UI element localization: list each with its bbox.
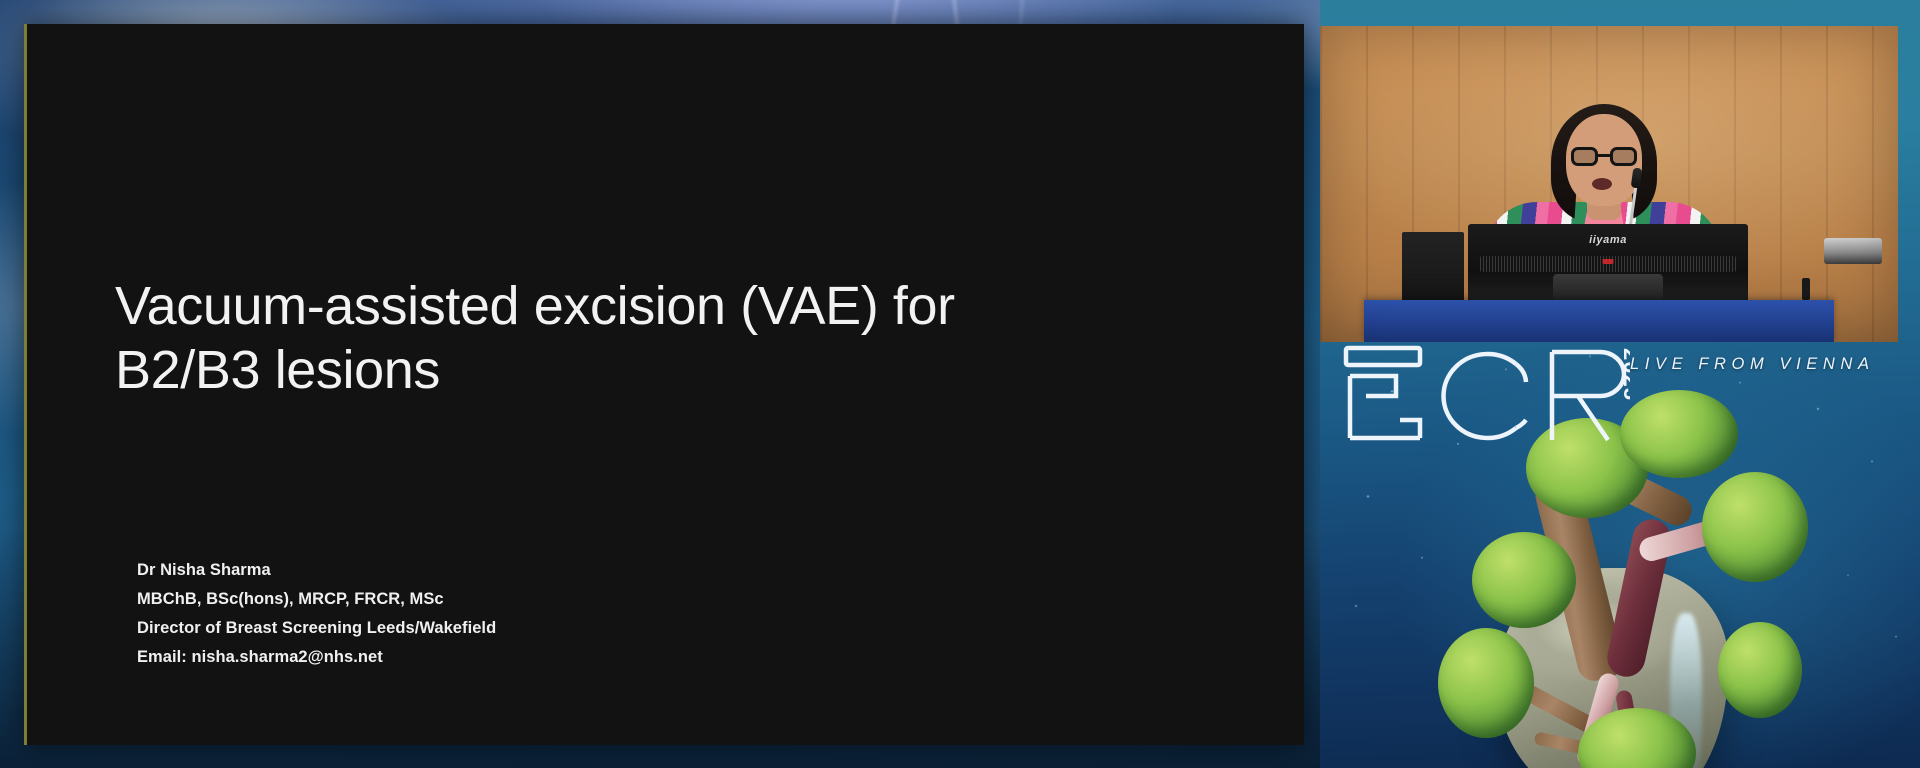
- presenter-role: Director of Breast Screening Leeds/Wakef…: [137, 614, 496, 643]
- presenter-details: Dr Nisha Sharma MBChB, BSc(hons), MRCP, …: [137, 556, 496, 672]
- slide-title-line-2: B2/B3 lesions: [115, 338, 1125, 402]
- monitor-brand-label: iiyama: [1589, 234, 1627, 246]
- presenter-email: Email: nisha.sharma2@nhs.net: [137, 643, 496, 672]
- slide-title-line-1: Vacuum-assisted excision (VAE) for: [115, 274, 1125, 338]
- podium-monitor: iiyama: [1468, 224, 1748, 306]
- glasses-icon: [1571, 147, 1637, 166]
- monitor-power-led: [1603, 259, 1614, 264]
- foliage-3: [1620, 390, 1738, 478]
- speaker-video-feed[interactable]: iiyama: [1320, 26, 1898, 342]
- side-microphone: [1802, 278, 1810, 300]
- speaker-mouth: [1592, 178, 1612, 190]
- ecr-logo-year: 2025: [1619, 348, 1630, 401]
- ecr-logo: 2025: [1340, 342, 1630, 450]
- live-from-vienna-tagline: LIVE FROM VIENNA: [1630, 355, 1875, 374]
- foliage-4: [1702, 472, 1808, 582]
- podium: [1364, 300, 1834, 342]
- foliage-1: [1472, 532, 1576, 628]
- foliage-5: [1438, 628, 1534, 738]
- event-branding-panel: 2025 LIVE FROM VIENNA iiyama: [1320, 0, 1920, 768]
- presenter-name: Dr Nisha Sharma: [137, 556, 496, 585]
- foliage-6: [1718, 622, 1802, 718]
- presentation-slide[interactable]: Vacuum-assisted excision (VAE) for B2/B3…: [24, 24, 1304, 745]
- side-device: [1824, 238, 1882, 264]
- av-speaker-box: [1402, 232, 1464, 306]
- slide-title: Vacuum-assisted excision (VAE) for B2/B3…: [115, 274, 1125, 403]
- presenter-credentials: MBChB, BSc(hons), MRCP, FRCR, MSc: [137, 585, 496, 614]
